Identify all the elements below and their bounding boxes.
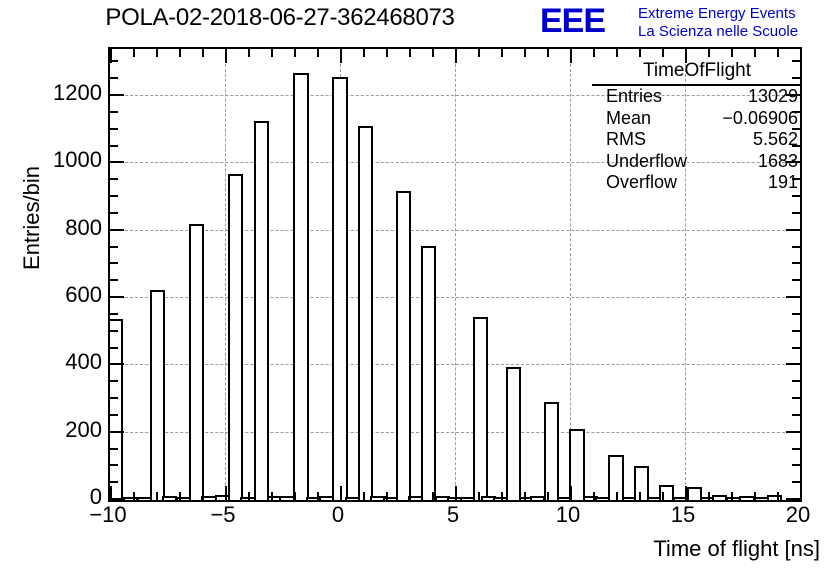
x-axis-tick-minor-top bbox=[501, 49, 503, 57]
eee-logo: EEE Extreme Energy Events La Scienza nel… bbox=[540, 3, 836, 43]
x-axis-tick-minor bbox=[593, 492, 595, 500]
x-axis-tick-minor bbox=[179, 492, 181, 500]
x-axis-tick-label: −10 bbox=[68, 502, 148, 528]
x-axis-tick-label: 20 bbox=[758, 502, 836, 528]
y-axis-tick-major-right bbox=[786, 229, 800, 231]
statistics-row: Entries13029 bbox=[592, 86, 802, 108]
histogram-bar bbox=[767, 495, 782, 500]
y-axis-tick-minor-right bbox=[792, 262, 800, 264]
y-axis-tick-minor-right bbox=[792, 347, 800, 349]
x-axis-tick-minor-top bbox=[248, 49, 250, 57]
x-axis-tick-minor bbox=[547, 492, 549, 500]
y-axis-tick-minor-right bbox=[792, 448, 800, 450]
x-axis-tick-minor-top bbox=[271, 49, 273, 57]
x-axis-tick-minor-top bbox=[731, 49, 733, 57]
statistics-value: 191 bbox=[768, 172, 798, 194]
statistics-value: 13029 bbox=[748, 86, 798, 108]
histogram-bar bbox=[254, 121, 269, 500]
y-axis-tick-major bbox=[110, 363, 124, 365]
y-axis-tick-label: 200 bbox=[65, 417, 102, 443]
x-axis-tick-minor-top bbox=[179, 49, 181, 57]
x-axis-tick-major-top bbox=[340, 49, 342, 63]
x-axis-tick-major bbox=[570, 486, 572, 500]
statistics-row: Mean−0.06906 bbox=[592, 108, 802, 130]
y-axis-tick-major-right bbox=[786, 431, 800, 433]
x-axis-tick-minor-top bbox=[662, 49, 664, 57]
x-axis-tick-major bbox=[455, 486, 457, 500]
page-title: POLA-02-2018-06-27-362468073 bbox=[0, 4, 560, 32]
x-axis-tick-minor bbox=[271, 492, 273, 500]
x-axis-tick-minor-top bbox=[639, 49, 641, 57]
y-axis-tick-minor bbox=[110, 464, 118, 466]
y-axis-tick-minor bbox=[110, 195, 118, 197]
y-axis-tick-minor bbox=[110, 128, 118, 130]
statistics-key: Entries bbox=[606, 86, 662, 108]
x-axis-tick-label: −5 bbox=[183, 502, 263, 528]
x-axis-tick-minor bbox=[754, 492, 756, 500]
y-axis-tick-minor-right bbox=[792, 195, 800, 197]
y-axis-tick-minor-right bbox=[792, 279, 800, 281]
x-axis-tick-minor-top bbox=[432, 49, 434, 57]
x-axis-tick-minor-top bbox=[317, 49, 319, 57]
y-axis-tick-major bbox=[110, 229, 124, 231]
x-axis-tick-major-top bbox=[455, 49, 457, 63]
x-axis-tick-minor-top bbox=[386, 49, 388, 57]
x-axis-tick-major bbox=[340, 486, 342, 500]
x-axis-tick-label: 0 bbox=[298, 502, 378, 528]
x-axis-tick-major bbox=[110, 486, 112, 500]
x-axis-tick-minor bbox=[616, 492, 618, 500]
statistics-value: 1683 bbox=[758, 151, 798, 173]
statistics-row: RMS5.562 bbox=[592, 129, 802, 151]
x-axis-tick-major bbox=[685, 486, 687, 500]
y-axis-tick-minor bbox=[110, 145, 118, 147]
histogram-bar bbox=[506, 367, 521, 500]
y-axis-tick-minor bbox=[110, 246, 118, 248]
x-axis-tick-minor-top bbox=[156, 49, 158, 57]
x-axis-title: Time of flight [ns] bbox=[500, 536, 820, 562]
x-axis-tick-label: 15 bbox=[643, 502, 723, 528]
y-axis-tick-minor bbox=[110, 347, 118, 349]
y-axis-tick-minor-right bbox=[792, 414, 800, 416]
x-axis-tick-minor bbox=[731, 492, 733, 500]
x-axis-tick-major-top bbox=[225, 49, 227, 63]
x-axis-tick-minor bbox=[777, 492, 779, 500]
histogram-bar bbox=[473, 317, 488, 500]
y-axis-tick-minor-right bbox=[792, 464, 800, 466]
statistics-box: TimeOfFlight Entries13029Mean−0.06906RMS… bbox=[592, 60, 802, 194]
y-axis-tick-minor-right bbox=[792, 313, 800, 315]
x-axis-tick-minor-top bbox=[754, 49, 756, 57]
histogram-bar bbox=[332, 77, 347, 500]
statistics-rows: Entries13029Mean−0.06906RMS5.562Underflo… bbox=[592, 86, 802, 194]
y-axis-tick-minor bbox=[110, 212, 118, 214]
statistics-row: Underflow1683 bbox=[592, 151, 802, 173]
statistics-title: TimeOfFlight bbox=[592, 60, 802, 86]
y-axis-tick-minor bbox=[110, 448, 118, 450]
histogram-bar bbox=[358, 126, 373, 500]
x-axis-tick-minor bbox=[202, 492, 204, 500]
y-axis-tick-minor bbox=[110, 313, 118, 315]
histogram-bar bbox=[228, 174, 243, 500]
y-axis-tick-label: 1200 bbox=[53, 80, 102, 106]
x-axis-tick-minor-top bbox=[547, 49, 549, 57]
y-axis-tick-minor-right bbox=[792, 212, 800, 214]
histogram-bar bbox=[396, 191, 411, 500]
y-axis-tick-label: 1000 bbox=[53, 147, 102, 173]
statistics-key: RMS bbox=[606, 129, 646, 151]
x-axis-tick-minor-top bbox=[409, 49, 411, 57]
x-axis-tick-minor-top bbox=[616, 49, 618, 57]
x-axis-tick-minor bbox=[386, 492, 388, 500]
histogram-bar bbox=[634, 466, 649, 500]
y-axis-tick-major bbox=[110, 296, 124, 298]
eee-logo-line2: La Scienza nelle Scuole bbox=[638, 23, 798, 40]
x-axis-tick-minor bbox=[478, 492, 480, 500]
histogram-bar bbox=[544, 402, 559, 500]
x-axis-tick-minor bbox=[662, 492, 664, 500]
y-axis-tick-minor bbox=[110, 481, 118, 483]
statistics-key: Mean bbox=[606, 108, 651, 130]
x-axis-tick-label: 5 bbox=[413, 502, 493, 528]
y-axis-tick-minor bbox=[110, 330, 118, 332]
y-axis-tick-minor bbox=[110, 414, 118, 416]
y-axis-tick-major-right bbox=[786, 363, 800, 365]
y-axis-tick-minor bbox=[110, 77, 118, 79]
x-axis-tick-minor-top bbox=[478, 49, 480, 57]
y-axis-tick-major-right bbox=[786, 296, 800, 298]
x-axis-tick-minor-top bbox=[294, 49, 296, 57]
y-axis-tick-label: 600 bbox=[65, 282, 102, 308]
statistics-value: −0.06906 bbox=[722, 108, 798, 130]
eee-logo-mark: EEE bbox=[540, 4, 605, 38]
x-axis-tick-minor-top bbox=[363, 49, 365, 57]
eee-logo-line1: Extreme Energy Events bbox=[638, 5, 796, 22]
x-axis-tick-minor bbox=[317, 492, 319, 500]
histogram-bar bbox=[421, 246, 436, 500]
x-axis-tick-minor bbox=[708, 492, 710, 500]
statistics-value: 5.562 bbox=[753, 129, 798, 151]
histogram-bar bbox=[150, 290, 165, 500]
x-axis-tick-minor-top bbox=[133, 49, 135, 57]
y-axis-tick-minor-right bbox=[792, 330, 800, 332]
root-canvas: POLA-02-2018-06-27-362468073 EEE Extreme… bbox=[0, 0, 836, 572]
x-axis-tick-minor bbox=[294, 492, 296, 500]
histogram-bar bbox=[293, 73, 308, 500]
y-axis-tick-minor-right bbox=[792, 246, 800, 248]
y-axis-tick-major bbox=[110, 431, 124, 433]
y-axis-tick-minor bbox=[110, 262, 118, 264]
histogram-bar bbox=[189, 224, 204, 500]
y-axis-tick-minor bbox=[110, 279, 118, 281]
x-axis-tick-label: 10 bbox=[528, 502, 608, 528]
x-axis-tick-minor-top bbox=[777, 49, 779, 57]
x-axis-tick-minor bbox=[409, 492, 411, 500]
x-axis-tick-minor bbox=[363, 492, 365, 500]
x-axis-tick-minor-top bbox=[524, 49, 526, 57]
x-axis-tick-minor bbox=[432, 492, 434, 500]
x-axis-tick-minor-top bbox=[202, 49, 204, 57]
y-axis-tick-major bbox=[110, 94, 124, 96]
x-axis-tick-minor bbox=[248, 492, 250, 500]
y-axis-tick-label: 400 bbox=[65, 349, 102, 375]
y-axis-tick-major bbox=[110, 498, 124, 500]
x-axis-tick-minor bbox=[501, 492, 503, 500]
statistics-row: Overflow191 bbox=[592, 172, 802, 194]
y-axis-tick-minor bbox=[110, 397, 118, 399]
y-axis-tick-major bbox=[110, 161, 124, 163]
grid-line-vertical bbox=[225, 49, 226, 500]
y-axis-tick-minor-right bbox=[792, 397, 800, 399]
y-axis-tick-minor-right bbox=[792, 481, 800, 483]
x-axis-tick-major-top bbox=[110, 49, 112, 63]
y-axis-tick-label: 800 bbox=[65, 215, 102, 241]
y-axis-tick-minor-right bbox=[792, 380, 800, 382]
x-axis-tick-minor bbox=[156, 492, 158, 500]
y-axis-tick-minor bbox=[110, 380, 118, 382]
x-axis-tick-minor bbox=[524, 492, 526, 500]
y-axis-tick-major-right bbox=[786, 498, 800, 500]
statistics-key: Overflow bbox=[606, 172, 677, 194]
x-axis-tick-minor bbox=[133, 492, 135, 500]
x-axis-tick-minor bbox=[639, 492, 641, 500]
y-axis-tick-minor bbox=[110, 111, 118, 113]
grid-line-vertical bbox=[455, 49, 456, 500]
x-axis-tick-major-top bbox=[570, 49, 572, 63]
x-axis-tick-minor-top bbox=[593, 49, 595, 57]
x-axis-tick-major bbox=[225, 486, 227, 500]
statistics-key: Underflow bbox=[606, 151, 687, 173]
y-axis-tick-minor bbox=[110, 178, 118, 180]
y-axis-title: Entries/bin bbox=[19, 108, 45, 328]
x-axis-tick-minor-top bbox=[708, 49, 710, 57]
